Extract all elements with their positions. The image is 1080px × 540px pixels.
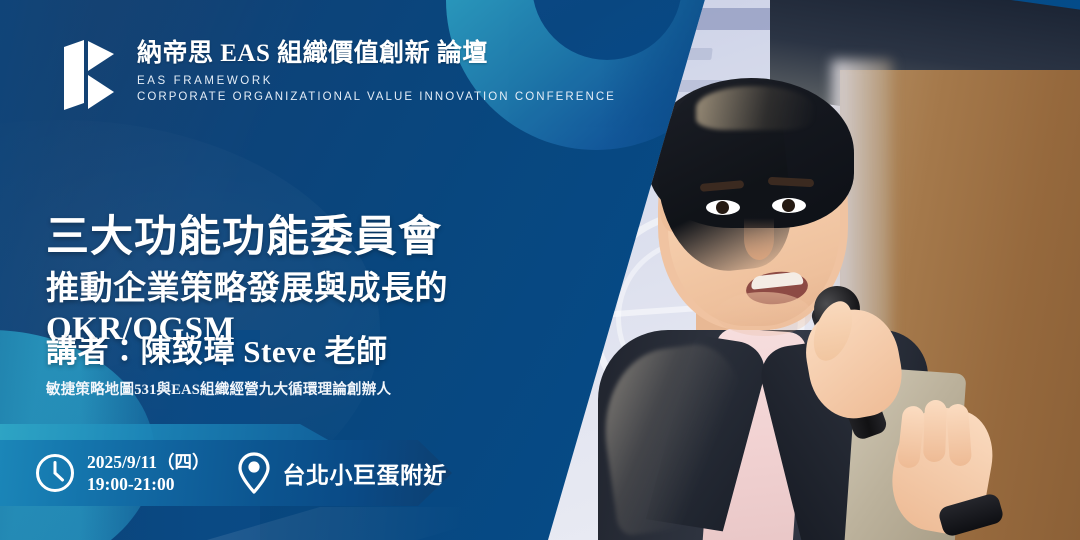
datetime-text: 2025/9/11（四） 19:00-21:00 xyxy=(87,451,210,496)
speaker-role: 敏捷策略地圖531與EAS組織經營九大循環理論創辦人 xyxy=(46,378,391,399)
brand-text-block: 納帝思 EAS 組織價值創新 論壇 EAS FRAMEWORK CORPORAT… xyxy=(137,38,616,103)
person-pupil-left xyxy=(716,201,729,214)
venue-item: 台北小巨蛋附近 xyxy=(236,451,448,495)
speaker-name: 講者：陳致瑋 Steve 老師 xyxy=(46,326,391,371)
person-pupil-right xyxy=(782,199,795,212)
person-nose xyxy=(744,218,774,260)
event-venue: 台北小巨蛋附近 xyxy=(283,456,448,490)
brand-title: 納帝思 EAS 組織價值創新 論壇 xyxy=(137,40,616,68)
datetime-item: 2025/9/11（四） 19:00-21:00 xyxy=(34,451,210,496)
person-chin xyxy=(716,292,812,336)
event-time: 19:00-21:00 xyxy=(87,473,210,495)
clock-icon xyxy=(34,452,76,494)
location-pin-icon xyxy=(236,451,272,495)
person-finger xyxy=(946,403,972,466)
headline-main: 三大功能功能委員會 xyxy=(46,214,606,262)
brand-subtitle-line2: CORPORATE ORGANIZATIONAL VALUE INNOVATIO… xyxy=(137,91,616,103)
person-hair-highlight xyxy=(696,86,814,130)
brand-subtitle-line1: EAS FRAMEWORK xyxy=(137,75,616,87)
person-finger xyxy=(923,400,947,463)
info-bar-accent xyxy=(0,424,330,441)
info-bar: 2025/9/11（四） 19:00-21:00 台北小巨蛋附近 xyxy=(0,440,452,506)
event-date: 2025/9/11（四） xyxy=(87,451,210,473)
eas-logo-mark-icon xyxy=(62,38,120,112)
speaker-block: 講者：陳致瑋 Steve 老師 敏捷策略地圖531與EAS組織經營九大循環理論創… xyxy=(46,326,391,399)
brand-lockup: 納帝思 EAS 組織價值創新 論壇 EAS FRAMEWORK CORPORAT… xyxy=(62,38,616,112)
event-banner: 納帝思 EAS 組織價值創新 論壇 EAS FRAMEWORK CORPORAT… xyxy=(0,0,1080,540)
